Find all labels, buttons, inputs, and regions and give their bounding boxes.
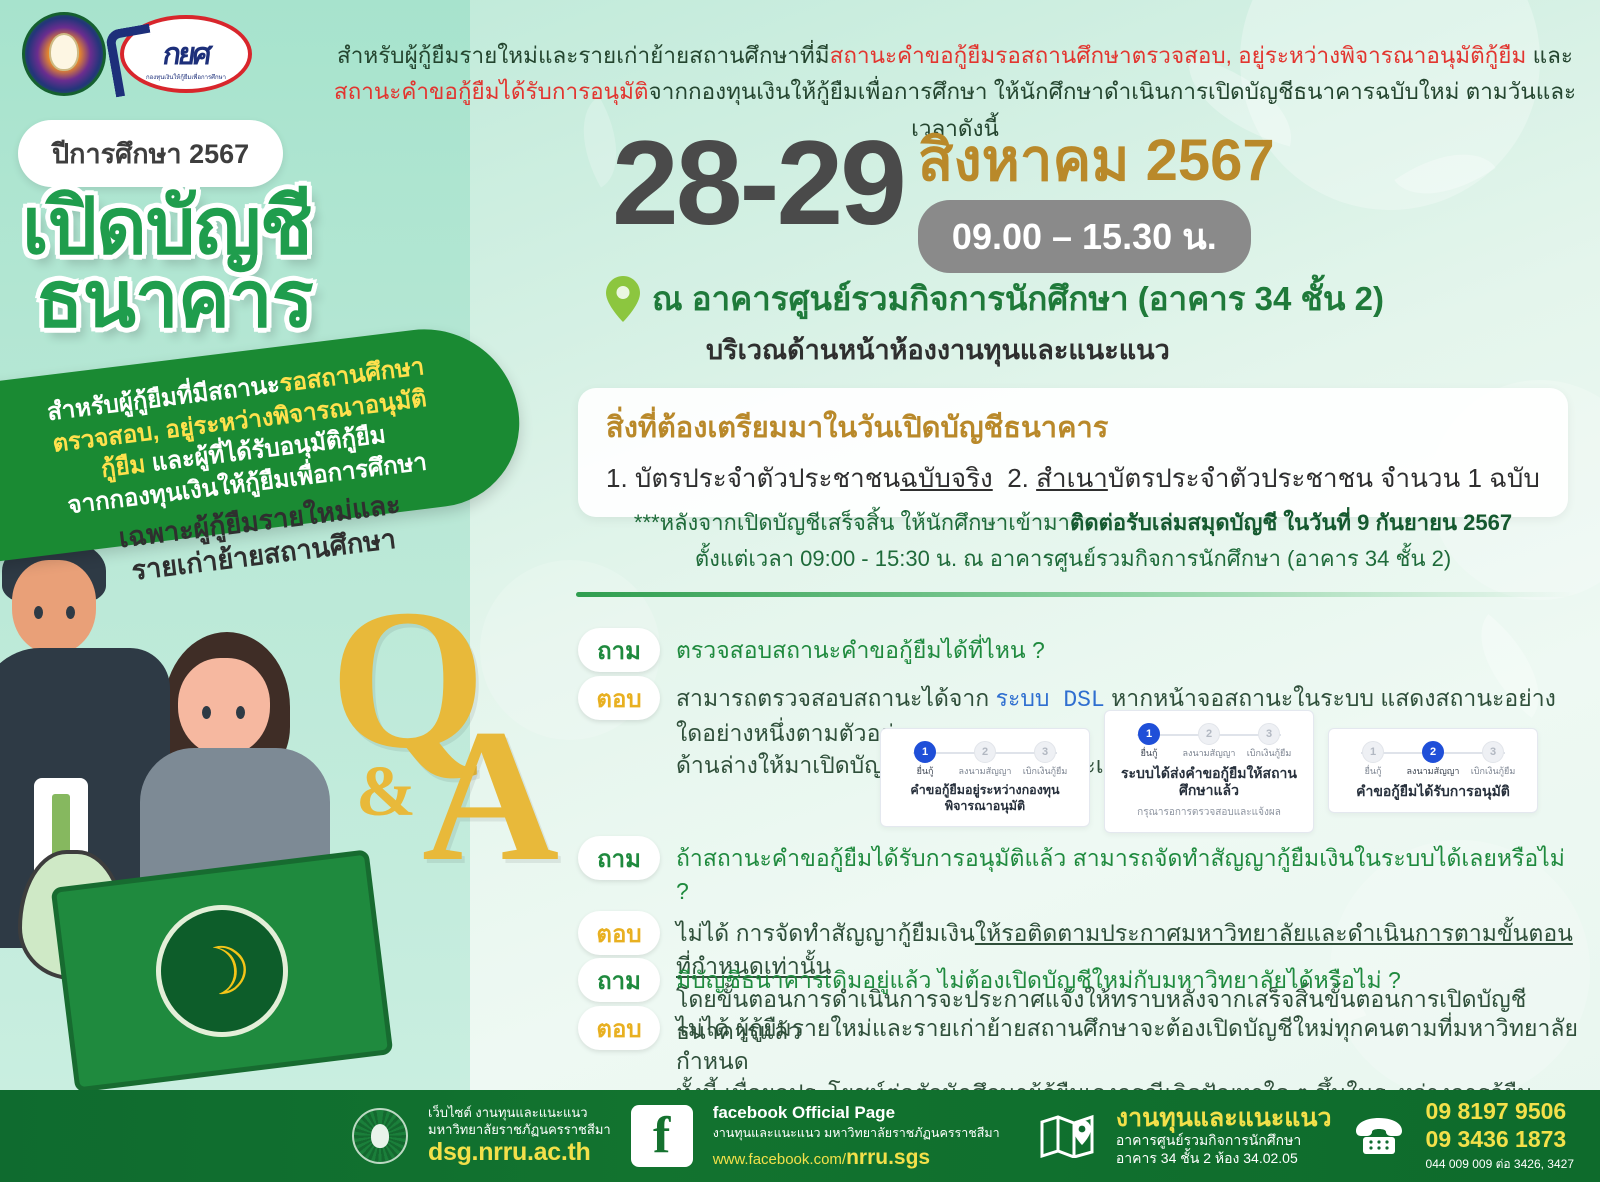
dsl-system-link[interactable]: ระบบ DSL [996, 687, 1105, 713]
stepper-step: 3 เบิกเงินกู้ยืม [1015, 741, 1075, 777]
university-seal-icon [22, 12, 106, 96]
status-example-cards: 1 ยื่นกู้ 2 ลงนามสัญญา 3 เบิกเงินกู้ยืม … [880, 728, 1538, 833]
footer-unit-sub-line2: อาคาร 34 ชั้น 2 ห้อง 34.02.05 [1116, 1149, 1332, 1167]
woman-head [178, 658, 270, 756]
stepper-dot: 2 [974, 741, 996, 763]
qa-answer-pre: ไม่ได้ ผู้กู้ยืมรายใหม่และรายเก่าย้ายสถา… [676, 1015, 1578, 1074]
footer-website-label-line1: เว็บไซต์ งานทุนและแนะแนว [428, 1105, 611, 1122]
map-pin-icon [1040, 1114, 1098, 1158]
stepper-dot: 2 [1198, 723, 1220, 745]
stepper-label: ยื่นกู้ [1119, 749, 1179, 759]
status-card-caption: ระบบได้ส่งคำขอกู้ยืมให้สถานศึกษาแล้ว [1119, 765, 1299, 800]
stepper-step: 1 ยื่นกู้ [1343, 741, 1403, 777]
event-date-block: 28-29 สิงหาคม 2567 09.00 – 15.30 น. [612, 128, 1275, 273]
footer-website-url[interactable]: dsg.nrru.ac.th [428, 1138, 611, 1167]
status-card-caption: คำขอกู้ยืมได้รับการอนุมัติ [1343, 783, 1523, 801]
stepper-step: 2 ลงนามสัญญา [955, 741, 1015, 777]
footer-left-group: เว็บไซต์ งานทุนและแนะแนว มหาวิทยาลัยราชภ… [352, 1103, 1000, 1170]
stepper: 1 ยื่นกู้ 2 ลงนามสัญญา 3 เบิกเงินกู้ยืม [1343, 741, 1523, 777]
stepper: 1 ยื่นกู้ 2 ลงนามสัญญา 3 เบิกเงินกู้ยืม [1119, 723, 1299, 759]
logo-group: กยศ กองทุนเงินให้กู้ยืมเพื่อการศึกษา [22, 12, 252, 96]
footer-facebook-block[interactable]: facebook Official Page งานทุนและแนะแนว ม… [713, 1103, 1000, 1170]
status-card: 1 ยื่นกู้ 2 ลงนามสัญญา 3 เบิกเงินกู้ยืม … [1104, 710, 1314, 833]
page-title-line2: ธนาคาร [36, 263, 313, 336]
qa-answer-pre: สามารถตรวจสอบสถานะได้จาก [676, 685, 996, 711]
event-days: 28-29 [612, 128, 904, 238]
klf-logo-mark: กยศ [160, 31, 212, 78]
footer-facebook-subtitle: งานทุนและแนะแนว มหาวิทยาลัยราชภัฏนครราชส… [713, 1123, 1000, 1143]
man-eye [34, 606, 43, 619]
answer-tag: ตอบ [578, 911, 660, 955]
event-time-badge: 09.00 – 15.30 น. [918, 200, 1251, 273]
facebook-icon[interactable]: f [631, 1105, 693, 1167]
status-card-subcaption: กรุณารอการตรวจสอบและแจ้งผล [1119, 805, 1299, 820]
footer-bar: เว็บไซต์ งานทุนและแนะแนว มหาวิทยาลัยราชภ… [0, 1090, 1600, 1182]
footer-phone-extension: 044 009 009 ต่อ 3426, 3427 [1426, 1155, 1574, 1174]
status-card: 1 ยื่นกู้ 2 ลงนามสัญญา 3 เบิกเงินกู้ยืม … [1328, 728, 1538, 813]
qa-decorative-letters: Q & A [330, 600, 486, 760]
stepper-step: 1 ยื่นกู้ [895, 741, 955, 777]
telephone-icon [1350, 1115, 1408, 1157]
stepper-dot: 1 [1138, 723, 1160, 745]
man-eye [66, 606, 75, 619]
crescent-star-icon: ☽ [189, 935, 256, 1008]
footer-unit-block: งานทุนและแนะแนว อาคารศูนย์รวมกิจการนักศึ… [1116, 1105, 1332, 1168]
intro-highlight1: สถานะคำขอกู้ยืมรอสถานศึกษาตรวจสอบ, อยู่ร… [830, 43, 1527, 68]
klf-logo-subtitle: กองทุนเงินให้กู้ยืมเพื่อการศึกษา [124, 72, 248, 82]
academic-year-badge: ปีการศึกษา 2567 [18, 120, 283, 187]
question-tag: ถาม [578, 958, 660, 1002]
bank-emblem: ☽ [148, 897, 295, 1044]
stepper-step: 2 ลงนามสัญญา [1403, 741, 1463, 777]
pickup-note-plain: ***หลังจากเปิดบัญชีเสร็จสิ้น ให้นักศึกษา… [634, 510, 1070, 535]
stepper-dot: 3 [1258, 723, 1280, 745]
footer-unit-name: งานทุนและแนะแนว [1116, 1105, 1332, 1131]
stepper-step: 2 ลงนามสัญญา [1179, 723, 1239, 759]
stepper-label: เบิกเงินกู้ยืม [1239, 749, 1299, 759]
location-pin-icon [606, 276, 640, 322]
status-card: 1 ยื่นกู้ 2 ลงนามสัญญา 3 เบิกเงินกู้ยืม … [880, 728, 1090, 827]
status-card-caption: คำขอกู้ยืมอยู่ระหว่างกองทุนพิจารณาอนุมัต… [895, 783, 1075, 814]
event-month-time: สิงหาคม 2567 09.00 – 15.30 น. [918, 128, 1275, 273]
klf-logo-icon: กยศ กองทุนเงินให้กู้ยืมเพื่อการศึกษา [120, 15, 252, 93]
page-title: เปิดบัญชี ธนาคาร [22, 190, 313, 337]
qa-question-text: มีบัญชีธนาคารเดิมอยู่แล้ว ไม่ต้องเปิดบัญ… [676, 958, 1401, 997]
event-month-year: สิงหาคม 2567 [918, 132, 1275, 190]
footer-right-group: งานทุนและแนะแนว อาคารศูนย์รวมกิจการนักศึ… [1040, 1098, 1574, 1173]
letter-ampersand: & [356, 750, 416, 833]
qa-question-row: ถาม ตรวจสอบสถานะคำขอกู้ยืมได้ที่ไหน ? [578, 628, 1578, 672]
footer-facebook-url[interactable]: www.facebook.com/nrru.sgs [713, 1146, 1000, 1170]
qa-question-text: ถ้าสถานะคำขอกู้ยืมได้รับการอนุมัติแล้ว ส… [676, 836, 1578, 907]
footer-phone-1: 09 8197 9506 [1426, 1098, 1574, 1125]
prepare-item-2-prefix: 2. [1007, 463, 1036, 493]
prepare-items-title: สิ่งที่ต้องเตรียมมาในวันเปิดบัญชีธนาคาร [606, 404, 1540, 450]
intro-highlight2: สถานะคำขอกู้ยืมได้รับการอนุมัติ [334, 79, 649, 104]
prepare-items-list: 1. บัตรประจำตัวประชาชนฉบับจริง 2. สำเนาบ… [606, 458, 1540, 499]
stepper-label: ยื่นกู้ [895, 767, 955, 777]
prepare-item-1-underline: ฉบับจริง [900, 463, 993, 493]
bank-book-card: ☽ [51, 849, 394, 1092]
question-tag: ถาม [578, 836, 660, 880]
stepper-dot: 3 [1034, 741, 1056, 763]
footer-unit-sub-line1: อาคารศูนย์รวมกิจการนักศึกษา [1116, 1131, 1332, 1149]
answer-tag: ตอบ [578, 676, 660, 720]
stepper: 1 ยื่นกู้ 2 ลงนามสัญญา 3 เบิกเงินกู้ยืม [895, 741, 1075, 777]
qa-question-row: ถาม ถ้าสถานะคำขอกู้ยืมได้รับการอนุมัติแล… [578, 836, 1578, 907]
stepper-label: ลงนามสัญญา [1179, 749, 1239, 759]
stepper-dot: 3 [1482, 741, 1504, 763]
letter-a: A [422, 720, 559, 872]
stepper-dot: 1 [914, 741, 936, 763]
man-head [12, 560, 96, 654]
answer-tag: ตอบ [578, 1006, 660, 1050]
footer-facebook-handle: nrru.sgs [846, 1146, 930, 1169]
footer-facebook-url-prefix: www.facebook.com/ [713, 1151, 846, 1168]
qa-question-row: ถาม มีบัญชีธนาคารเดิมอยู่แล้ว ไม่ต้องเปิ… [578, 958, 1578, 1002]
woman-eye [202, 706, 211, 719]
intro-part1: สำหรับผู้กู้ยืมรายใหม่และรายเก่าย้ายสถาน… [337, 43, 830, 68]
footer-facebook-title: facebook Official Page [713, 1103, 1000, 1123]
stepper-dot: 1 [1362, 741, 1384, 763]
qa-answer-pre: ไม่ได้ การจัดทำสัญญากู้ยืมเงิน [676, 920, 975, 946]
prepare-items-card: สิ่งที่ต้องเตรียมมาในวันเปิดบัญชีธนาคาร … [578, 388, 1568, 517]
woman-eye [236, 706, 245, 719]
event-venue-row: ณ อาคารศูนย์รวมกิจการนักศึกษา (อาคาร 34 … [606, 272, 1384, 325]
pickup-note-line1: ***หลังจากเปิดบัญชีเสร็จสิ้น ให้นักศึกษา… [578, 505, 1568, 540]
footer-website-label-line2: มหาวิทยาลัยราชภัฏนครราชสีมา [428, 1122, 611, 1139]
stepper-step: 3 เบิกเงินกู้ยืม [1239, 723, 1299, 759]
prepare-item-1: 1. บัตรประจำตัวประชาชน [606, 463, 900, 493]
qa-question-text: ตรวจสอบสถานะคำขอกู้ยืมได้ที่ไหน ? [676, 628, 1045, 667]
footer-phone-2: 09 3436 1873 [1426, 1126, 1574, 1153]
stepper-label: ลงนามสัญญา [955, 767, 1015, 777]
intro-part2: และ [1526, 43, 1573, 68]
stepper-label: ลงนามสัญญา [1403, 767, 1463, 777]
poster-root: กยศ กองทุนเงินให้กู้ยืมเพื่อการศึกษา ปีก… [0, 0, 1600, 1182]
stepper-label: เบิกเงินกู้ยืม [1015, 767, 1075, 777]
footer-university-seal-icon [352, 1108, 408, 1164]
prepare-item-2-underline: สำเนา [1036, 463, 1108, 493]
event-venue-sub: บริเวณด้านหน้าห้องงานทุนและแนะแนว [706, 328, 1170, 371]
pickup-note-line2: ตั้งแต่เวลา 09:00 - 15:30 น. ณ อาคารศูนย… [578, 541, 1568, 576]
prepare-item-2: บัตรประจำตัวประชาชน จำนวน 1 ฉบับ [1108, 463, 1540, 493]
question-tag: ถาม [578, 628, 660, 672]
stepper-step: 3 เบิกเงินกู้ยืม [1463, 741, 1523, 777]
pickup-note-bold: ติดต่อรับเล่มสมุดบัญชี ในวันที่ 9 กันยาย… [1070, 510, 1512, 535]
event-venue-main: ณ อาคารศูนย์รวมกิจการนักศึกษา (อาคาร 34 … [652, 272, 1384, 325]
stepper-label: ยื่นกู้ [1343, 767, 1403, 777]
stepper-step: 1 ยื่นกู้ [1119, 723, 1179, 759]
stepper-dot: 2 [1422, 741, 1444, 763]
footer-phone-block: 09 8197 9506 09 3436 1873 044 009 009 ต่… [1426, 1098, 1574, 1173]
section-divider [576, 592, 1576, 597]
stepper-label: เบิกเงินกู้ยืม [1463, 767, 1523, 777]
footer-website-block[interactable]: เว็บไซต์ งานทุนและแนะแนว มหาวิทยาลัยราชภ… [428, 1105, 611, 1168]
